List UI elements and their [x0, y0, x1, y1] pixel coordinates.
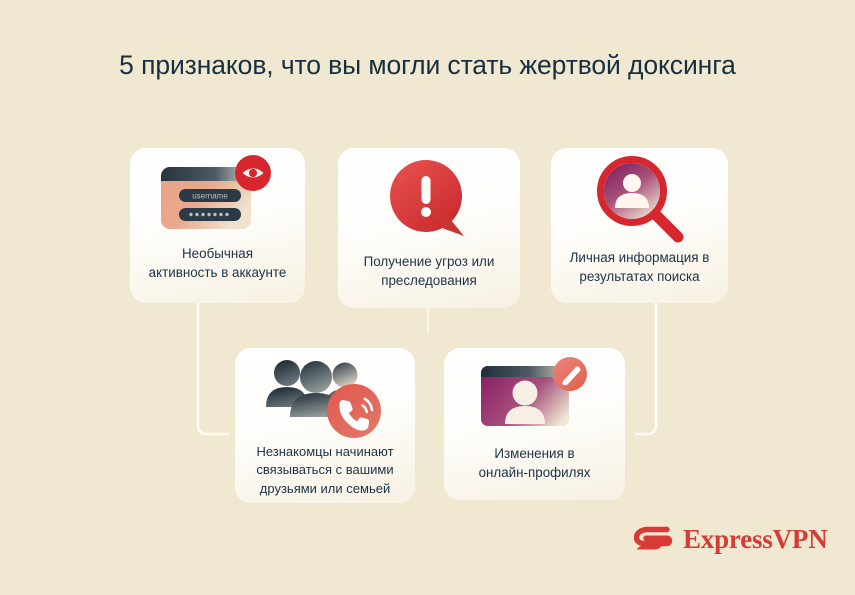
card-personal-info-in-search[interactable]: Личная информация в результатах поиска — [551, 148, 728, 303]
card-label: Получение угроз или преследования — [356, 252, 503, 290]
login-window-with-eye-icon: username — [159, 155, 277, 237]
card-label: Личная информация в результатах поиска — [562, 248, 718, 286]
card-label-line-3: друзьями или семьей — [256, 480, 393, 498]
card-label-line-2: результатах поиска — [570, 267, 710, 286]
card-label-line-1: Получение угроз или — [364, 252, 495, 271]
card-label-line-2: преследования — [364, 271, 495, 290]
speech-bubble-alert-icon — [386, 156, 472, 244]
card-label-line-2: связываться с вашими — [256, 461, 393, 479]
card-label-line-1: Личная информация в — [570, 248, 710, 267]
magnifier-person-icon — [594, 153, 686, 243]
card-label-line-2: активность в аккаунте — [149, 263, 287, 282]
card-icon-area — [444, 348, 625, 444]
group-of-people-with-phone-icon — [261, 353, 389, 439]
card-icon-area: username — [130, 148, 305, 244]
card-strangers-contacting-friends[interactable]: Незнакомцы начинают связываться с вашими… — [235, 348, 415, 503]
card-label-line-1: Изменения в — [479, 444, 591, 463]
card-online-profile-changes[interactable]: Изменения в онлайн-профилях — [444, 348, 625, 500]
card-unusual-account-activity[interactable]: username Необычная активность в аккаунте — [130, 148, 305, 303]
card-label: Изменения в онлайн-профилях — [471, 444, 599, 482]
card-label-line-1: Незнакомцы начинают — [256, 443, 393, 461]
card-label: Необычная активность в аккаунте — [141, 244, 295, 282]
card-label-line-1: Необычная — [149, 244, 287, 263]
card-icon-area — [235, 348, 415, 443]
expressvpn-wordmark: ExpressVPN — [683, 524, 828, 555]
card-icon-area — [338, 148, 520, 252]
card-threats-or-harassment[interactable]: Получение угроз или преследования — [338, 148, 520, 308]
svg-text:username: username — [192, 191, 228, 200]
infographic-canvas: 5 признаков, что вы могли стать жертвой … — [0, 0, 855, 595]
card-label: Незнакомцы начинают связываться с вашими… — [248, 443, 401, 498]
expressvpn-logo-mark — [634, 523, 674, 555]
profile-window-with-edit-icon — [479, 356, 591, 436]
card-icon-area — [551, 148, 728, 248]
card-label-line-2: онлайн-профилях — [479, 463, 591, 482]
expressvpn-logo[interactable]: ExpressVPN — [634, 523, 828, 555]
page-title: 5 признаков, что вы могли стать жертвой … — [0, 50, 855, 81]
